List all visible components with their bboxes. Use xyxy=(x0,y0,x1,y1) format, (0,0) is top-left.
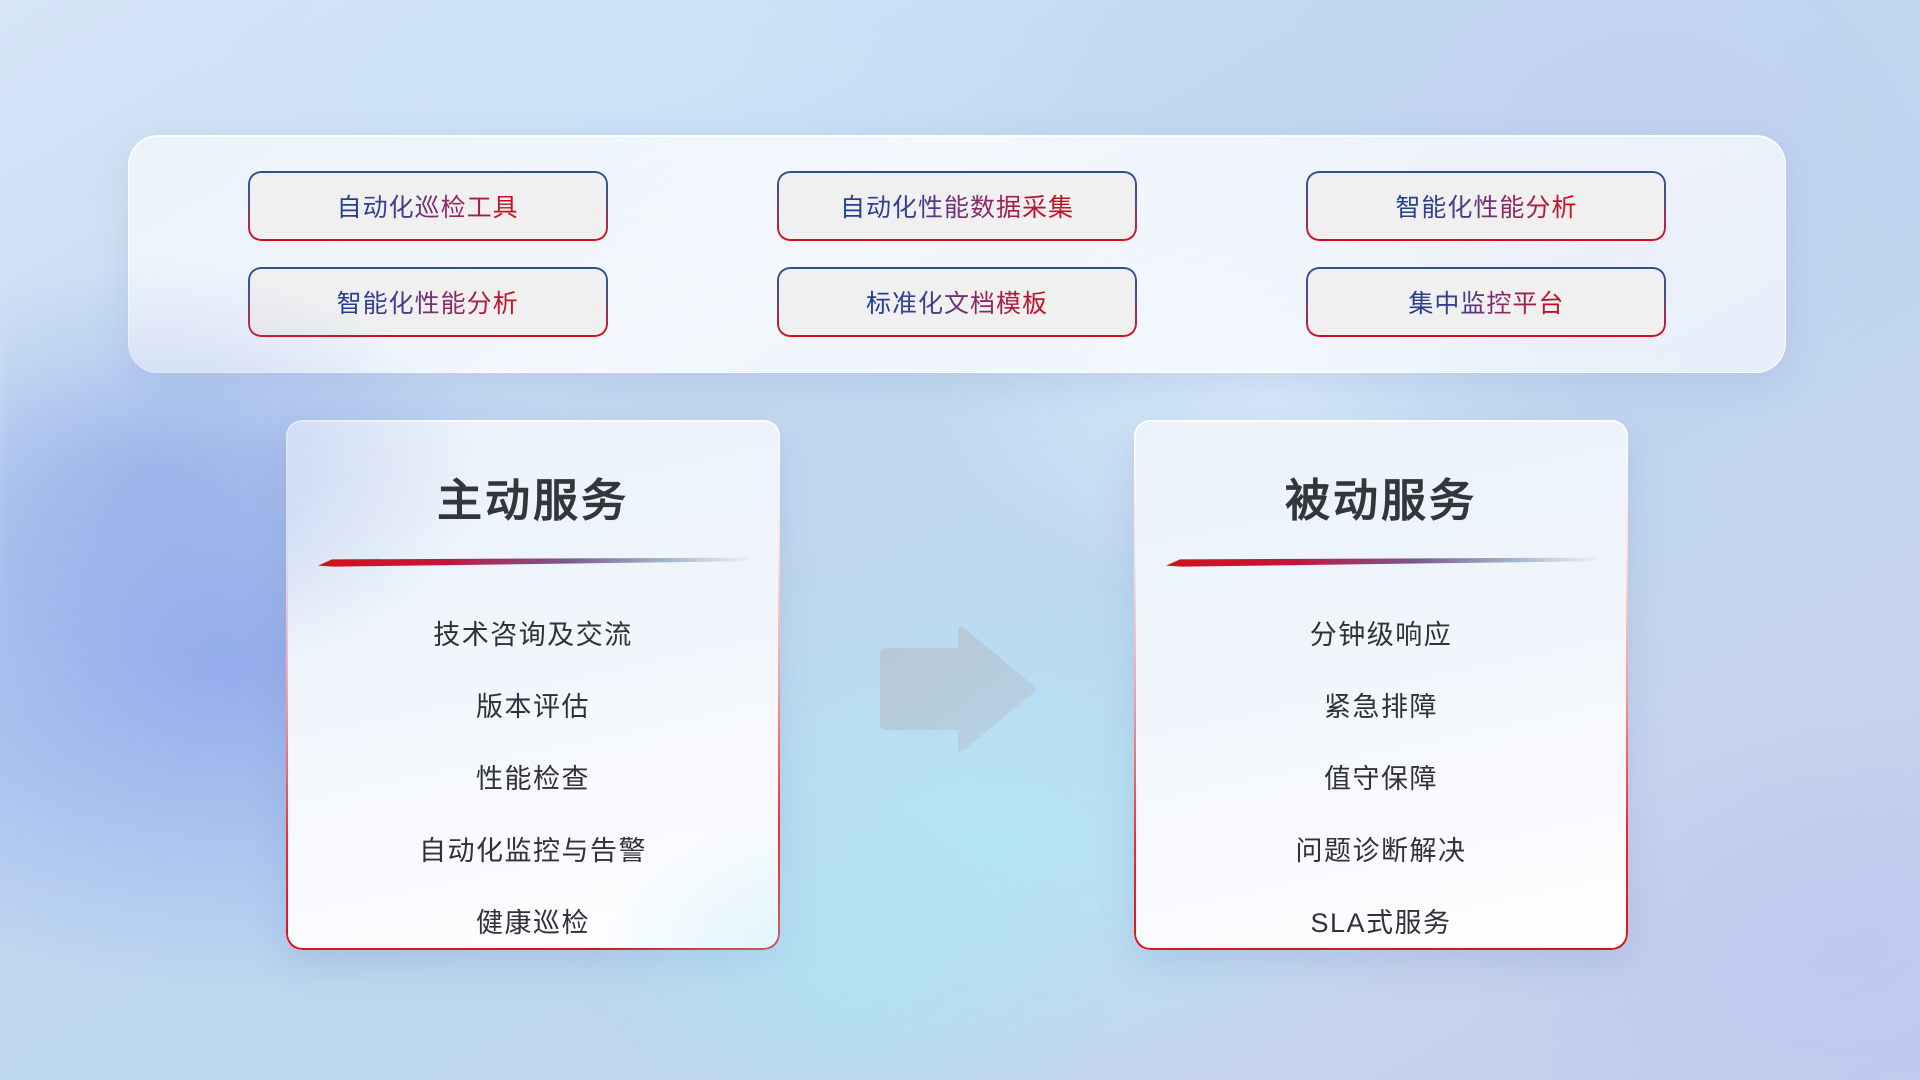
service-list-item: 紧急排障 xyxy=(1324,671,1438,743)
service-list-item: 自动化监控与告警 xyxy=(419,815,647,887)
infographic-canvas: 自动化巡检工具 自动化性能数据采集 智能化性能分析 智能化性能分析 标准化文档模… xyxy=(0,0,1920,1080)
capability-tag-6[interactable]: 集中监控平台 xyxy=(1308,269,1664,335)
service-list-item: 健康巡检 xyxy=(476,887,590,950)
flow-arrow xyxy=(872,625,1042,755)
service-list-item: 问题诊断解决 xyxy=(1296,815,1467,887)
card-title: 主动服务 xyxy=(286,464,780,529)
service-list-item: 版本评估 xyxy=(476,671,590,743)
capability-tag-label: 自动化巡检工具 xyxy=(337,188,519,224)
capability-tag-label: 集中监控平台 xyxy=(1408,284,1564,320)
service-card-proactive: 主动服务 技术咨询及交流 版本评估 性能检查 自动化监控与告警 xyxy=(286,420,780,950)
right-arrow-icon xyxy=(872,625,1042,755)
service-list-item: SLA式服务 xyxy=(1310,887,1451,950)
capability-tag-5[interactable]: 标准化文档模板 xyxy=(779,269,1135,335)
capability-tag-4[interactable]: 智能化性能分析 xyxy=(250,269,606,335)
service-item-list: 分钟级响应 紧急排障 值守保障 问题诊断解决 SLA式服务 xyxy=(1134,599,1628,950)
capability-tag-label: 智能化性能分析 xyxy=(337,284,519,320)
capability-tag-3[interactable]: 智能化性能分析 xyxy=(1308,173,1664,239)
capability-tags-panel: 自动化巡检工具 自动化性能数据采集 智能化性能分析 智能化性能分析 标准化文档模… xyxy=(128,135,1786,373)
service-list-item: 技术咨询及交流 xyxy=(433,599,633,671)
card-divider xyxy=(1166,557,1596,567)
capability-tag-label: 自动化性能数据采集 xyxy=(840,188,1074,224)
capability-tag-2[interactable]: 自动化性能数据采集 xyxy=(779,173,1135,239)
capability-tag-1[interactable]: 自动化巡检工具 xyxy=(250,173,606,239)
card-title: 被动服务 xyxy=(1134,464,1628,529)
service-item-list: 技术咨询及交流 版本评估 性能检查 自动化监控与告警 健康巡检 xyxy=(286,599,780,950)
service-list-item: 性能检查 xyxy=(476,743,590,815)
service-card-reactive: 被动服务 分钟级响应 紧急排障 值守保障 问题诊断解决 xyxy=(1134,420,1628,950)
service-list-item: 值守保障 xyxy=(1324,743,1438,815)
card-divider xyxy=(318,557,748,567)
service-list-item: 分钟级响应 xyxy=(1310,599,1453,671)
capability-tag-label: 智能化性能分析 xyxy=(1395,188,1577,224)
capability-tag-label: 标准化文档模板 xyxy=(866,284,1048,320)
